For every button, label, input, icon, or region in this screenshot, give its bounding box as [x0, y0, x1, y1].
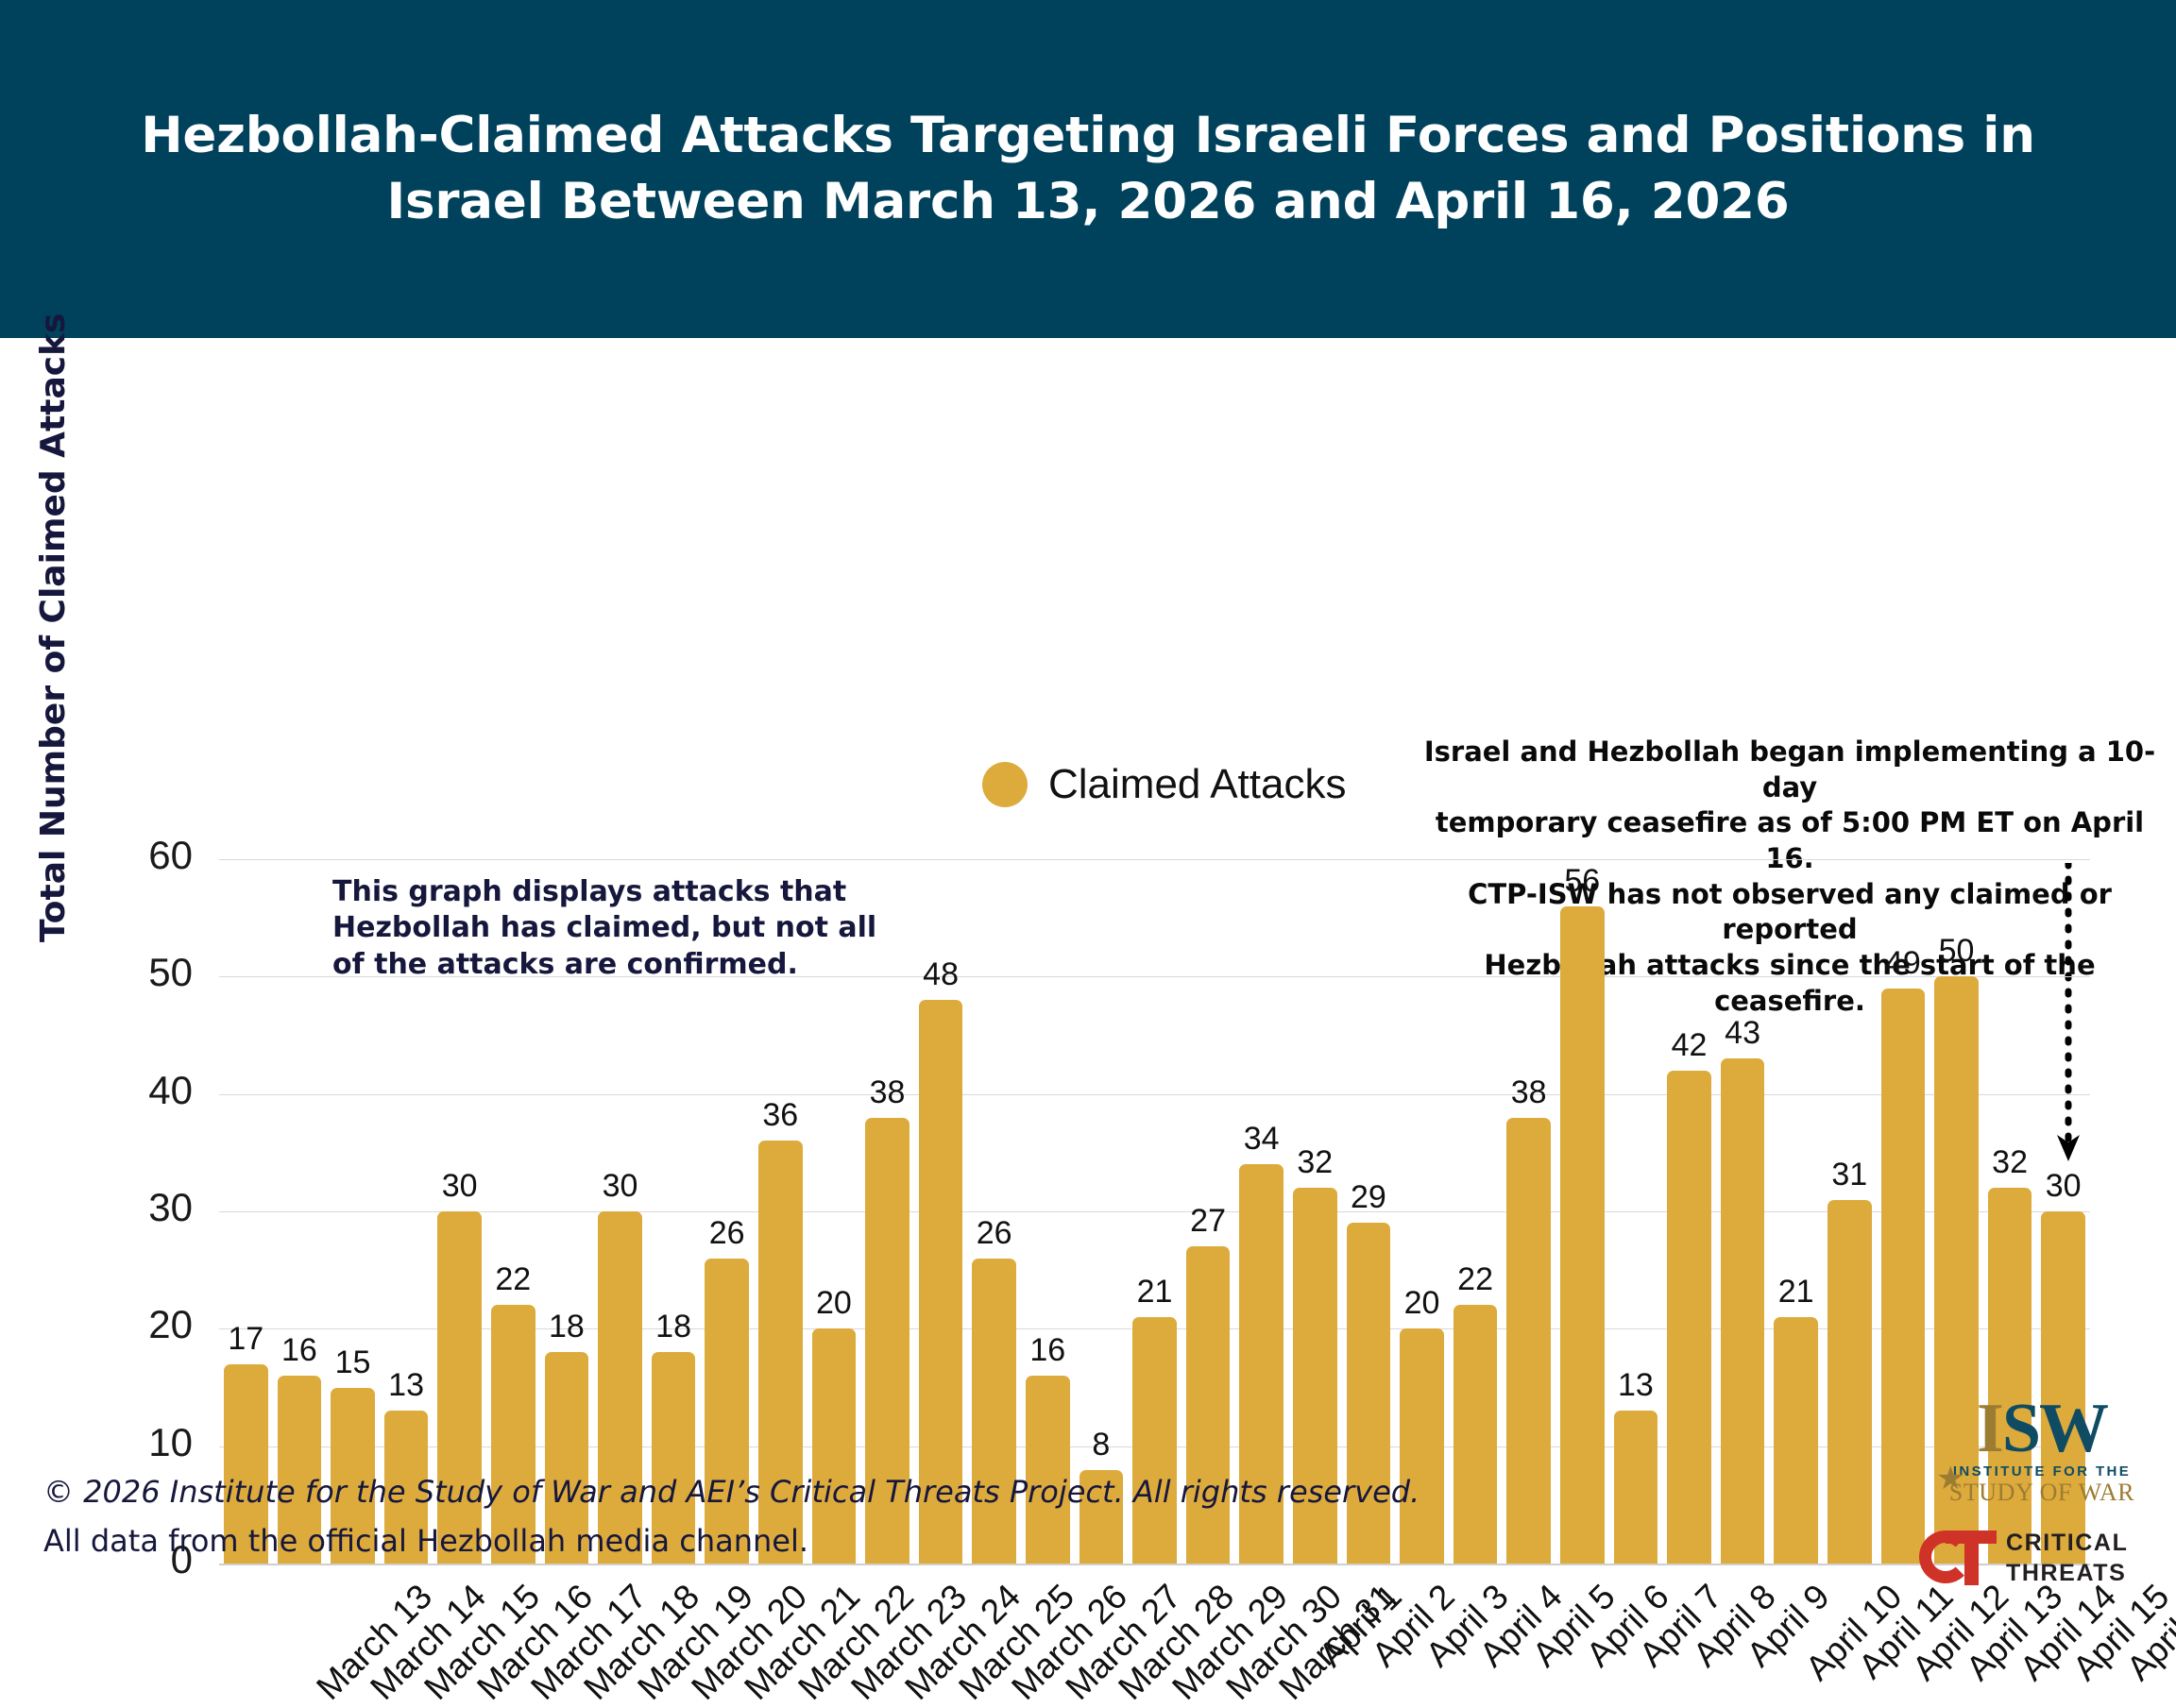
bar-value-label: 22 — [472, 1261, 554, 1298]
bar[interactable] — [1988, 1188, 2032, 1564]
y-axis-title: Total Number of Claimed Attacks — [34, 414, 73, 942]
chart-canvas: Total Number of Claimed Attacks Claimed … — [0, 338, 2176, 1632]
bar[interactable] — [1881, 989, 1926, 1564]
bar-value-label: 18 — [526, 1309, 608, 1345]
ct-wordmark-line-1: CRITICAL — [2006, 1528, 2128, 1558]
y-axis-tick-label: 50 — [70, 950, 193, 995]
gridline — [219, 1094, 2090, 1095]
isw-tagline-bottom: STUDY OF WAR — [1938, 1480, 2146, 1505]
bar-value-label: 26 — [953, 1215, 1035, 1252]
bar-value-label: 21 — [1755, 1274, 1837, 1311]
bar[interactable] — [1827, 1200, 1872, 1564]
footer-source: All data from the official Hezbollah med… — [43, 1517, 1592, 1566]
isw-logo: ISW INSTITUTE FOR THE STUDY OF WAR ★ — [1938, 1395, 2146, 1506]
legend-label-claimed-attacks: Claimed Attacks — [1048, 761, 1346, 808]
bar-value-label: 30 — [418, 1168, 501, 1205]
footer-copyright: © 2026 Institute for the Study of War an… — [43, 1468, 1592, 1517]
bar[interactable] — [1721, 1058, 1765, 1564]
y-axis-tick-label: 30 — [70, 1185, 193, 1230]
bar[interactable] — [1774, 1317, 1818, 1564]
bar[interactable] — [1614, 1411, 1658, 1564]
bar-value-label: 22 — [1435, 1261, 1517, 1298]
annotation-ceasefire-line-1: Israel and Hezbollah began implementing … — [1407, 735, 2172, 805]
bar-value-label: 38 — [1487, 1074, 1570, 1111]
bar-value-label: 18 — [633, 1309, 715, 1345]
bar-value-label: 16 — [1007, 1332, 1089, 1369]
bar-value-label: 13 — [1595, 1367, 1677, 1404]
isw-tagline-top: INSTITUTE FOR THE — [1938, 1463, 2146, 1480]
bar-value-label: 29 — [1328, 1179, 1410, 1216]
chart-legend: Claimed Attacks — [982, 761, 1346, 808]
isw-wordmark: ISW — [1938, 1395, 2146, 1462]
page-title-line-1: Hezbollah-Claimed Attacks Targeting Isra… — [141, 103, 2035, 169]
bar-value-label: 36 — [739, 1097, 822, 1134]
footer: © 2026 Institute for the Study of War an… — [43, 1468, 1592, 1566]
bar-value-label: 38 — [846, 1074, 928, 1111]
bar-value-label: 56 — [1541, 863, 1623, 900]
title-banner: Hezbollah-Claimed Attacks Targeting Isra… — [0, 0, 2176, 338]
bar-value-label: 27 — [1167, 1203, 1249, 1240]
bar[interactable] — [2041, 1211, 2085, 1564]
bar[interactable] — [1667, 1071, 1711, 1564]
bar-value-label: 32 — [1274, 1144, 1356, 1181]
bar-value-label: 26 — [686, 1215, 768, 1252]
page-title-line-2: Israel Between March 13, 2026 and April … — [386, 169, 1789, 235]
y-axis-tick-label: 20 — [70, 1302, 193, 1347]
bar-value-label: 43 — [1702, 1015, 1784, 1052]
y-axis-tick-label: 10 — [70, 1420, 193, 1465]
gridline — [219, 976, 2090, 977]
gridline — [219, 1211, 2090, 1212]
ct-monogram-icon — [1919, 1530, 1997, 1585]
bar-value-label: 30 — [2022, 1168, 2104, 1205]
bar-value-label: 30 — [579, 1168, 661, 1205]
legend-swatch-claimed-attacks — [982, 762, 1028, 807]
bar-value-label: 48 — [900, 956, 982, 993]
bar-value-label: 20 — [793, 1285, 875, 1322]
bar-value-label: 13 — [365, 1367, 448, 1404]
y-axis-tick-label: 40 — [70, 1068, 193, 1113]
bar-value-label: 21 — [1113, 1274, 1196, 1311]
star-icon: ★ — [1936, 1460, 1964, 1497]
bar-value-label: 50 — [1915, 933, 1997, 970]
ct-wordmark: CRITICAL THREATS — [2006, 1528, 2128, 1588]
bar-value-label: 31 — [1809, 1157, 1891, 1193]
gridline — [219, 859, 2090, 860]
y-axis-tick-label: 60 — [70, 833, 193, 878]
plot-area — [219, 859, 2090, 1564]
ct-wordmark-line-2: THREATS — [2006, 1558, 2128, 1588]
bar[interactable] — [1560, 906, 1605, 1564]
critical-threats-logo: CRITICAL THREATS — [1919, 1528, 2128, 1588]
bar-value-label: 8 — [1061, 1427, 1143, 1463]
